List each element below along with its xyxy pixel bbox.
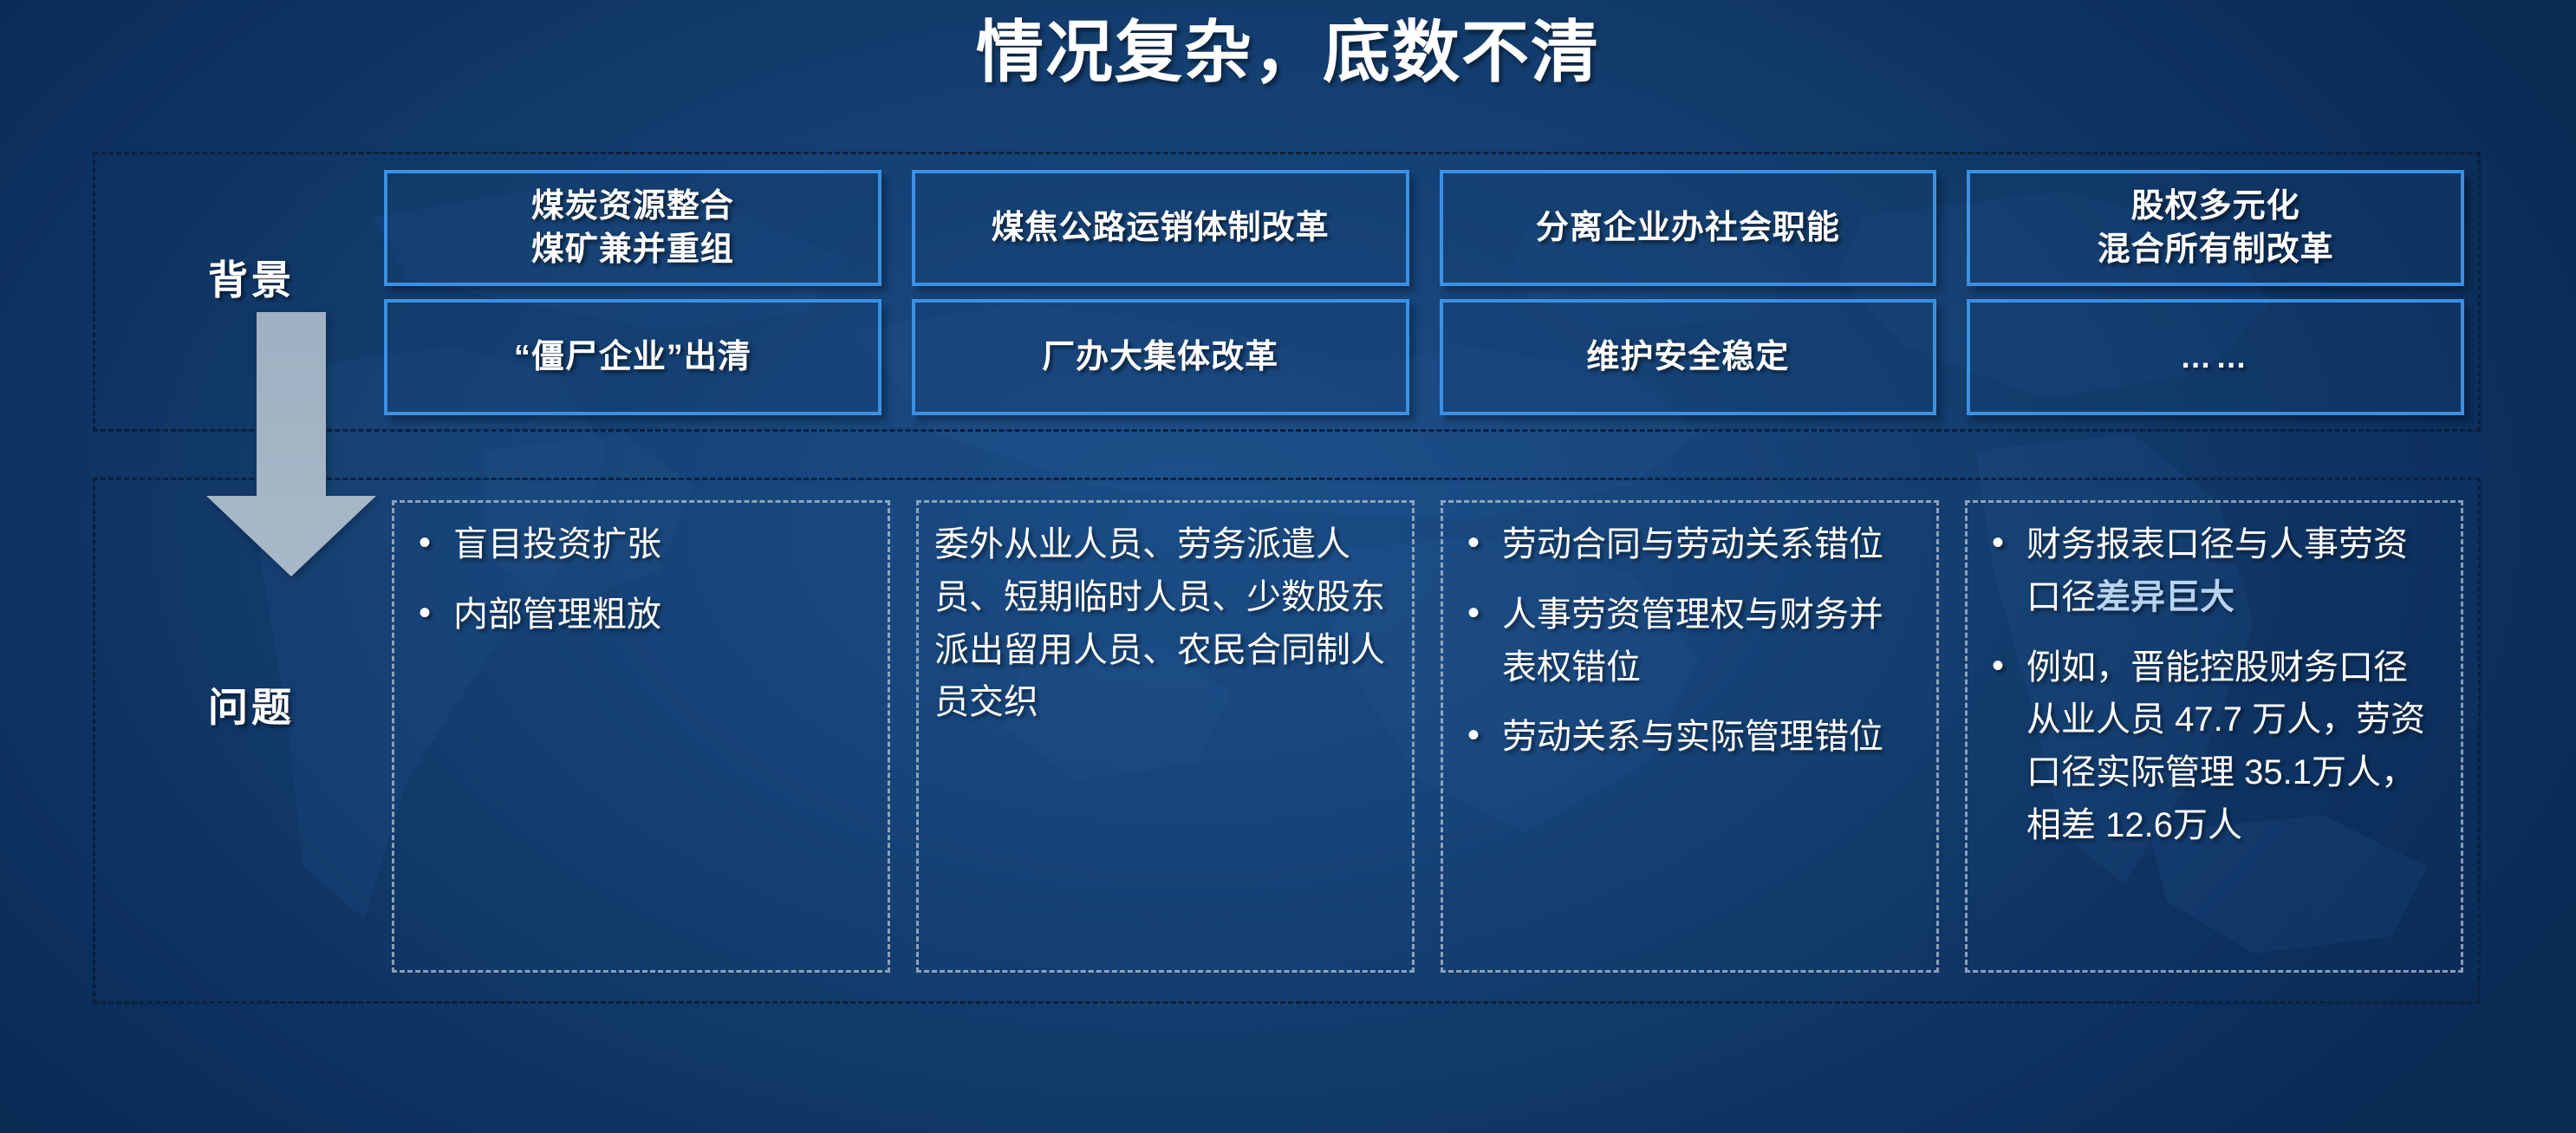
topic-box-3[interactable]: 分离企业办社会职能 [1440, 170, 1937, 286]
list-item: 财务报表口径与人事劳资口径差异巨大 [1988, 518, 2442, 624]
problem-column-1: 盲目投资扩张 内部管理粗放 [392, 500, 890, 973]
list-item: 人事劳资管理权与财务并表权错位 [1464, 589, 1917, 694]
topic-box-1[interactable]: 煤炭资源整合 煤矿兼并重组 [384, 170, 881, 286]
problem-column-2: 委外从业人员、劳务派遣人员、短期临时人员、少数股东派出留用人员、农民合同制人员交… [916, 500, 1415, 973]
topic-box-8[interactable]: …… [1967, 299, 2464, 415]
problem-list-1: 盲目投资扩张 内部管理粗放 [410, 518, 868, 641]
problems-section-label: 问题 [208, 676, 295, 733]
topic-box-6[interactable]: 厂办大集体改革 [912, 299, 1409, 415]
topic-box-4[interactable]: 股权多元化 混合所有制改革 [1967, 170, 2464, 286]
problem-list-3: 劳动合同与劳动关系错位 人事劳资管理权与财务并表权错位 劳动关系与实际管理错位 [1459, 518, 1917, 764]
background-section-label: 背景 [208, 249, 295, 306]
list-item: 例如，晋能控股财务口径从业人员 47.7 万人，劳资口径实际管理 35.1万人，… [1988, 641, 2442, 852]
problem-paragraph-2: 委外从业人员、劳务派遣人员、短期临时人员、少数股东派出留用人员、农民合同制人员交… [934, 518, 1393, 729]
list-item-text: 例如，晋能控股财务口径从业人员 47.7 万人，劳资口径实际管理 35.1万人，… [2026, 648, 2425, 844]
problems-grid: 盲目投资扩张 内部管理粗放 委外从业人员、劳务派遣人员、短期临时人员、少数股东派… [392, 500, 2463, 973]
background-topic-grid: 煤炭资源整合 煤矿兼并重组 煤焦公路运销体制改革 分离企业办社会职能 股权多元化… [384, 170, 2464, 415]
page-title: 情况复杂，底数不清 [0, 7, 2576, 98]
problem-column-4: 财务报表口径与人事劳资口径差异巨大 例如，晋能控股财务口径从业人员 47.7 万… [1965, 500, 2463, 973]
list-item: 劳动关系与实际管理错位 [1464, 711, 1917, 764]
list-item: 盲目投资扩张 [415, 518, 868, 571]
list-item: 内部管理粗放 [415, 589, 868, 641]
problem-list-4: 财务报表口径与人事劳资口径差异巨大 例如，晋能控股财务口径从业人员 47.7 万… [1983, 518, 2442, 852]
highlighted-text: 差异巨大 [2096, 578, 2234, 616]
topic-box-5[interactable]: “僵尸企业”出清 [384, 299, 881, 415]
problem-column-3: 劳动合同与劳动关系错位 人事劳资管理权与财务并表权错位 劳动关系与实际管理错位 [1441, 500, 1939, 973]
topic-box-2[interactable]: 煤焦公路运销体制改革 [912, 170, 1409, 286]
list-item: 劳动合同与劳动关系错位 [1464, 518, 1917, 571]
topic-box-7[interactable]: 维护安全稳定 [1440, 299, 1937, 415]
slide-root: 情况复杂，底数不清 背景 问题 煤炭资源整合 煤矿兼并重组 煤焦公路运销体制改革… [0, 0, 2576, 1133]
